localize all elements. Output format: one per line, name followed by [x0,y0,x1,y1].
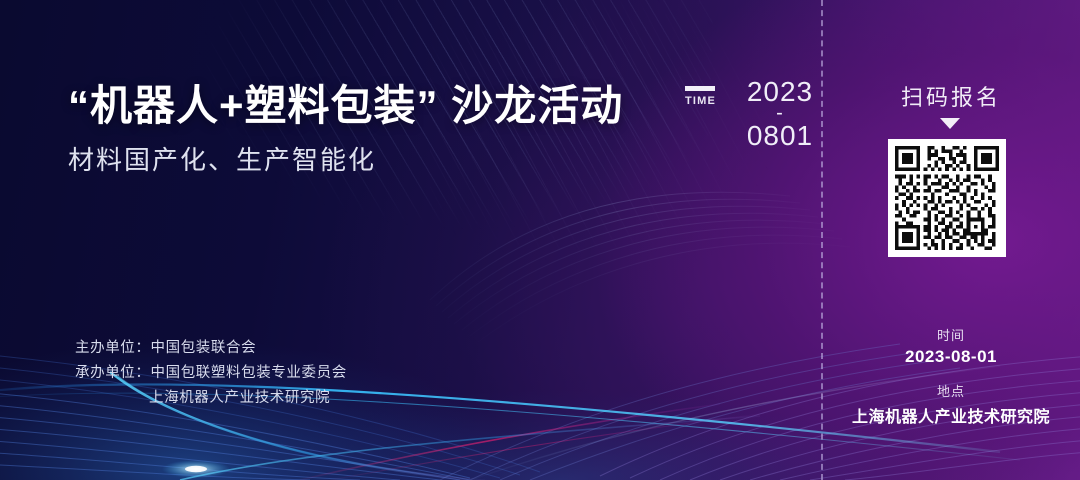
page-title: “机器人+塑料包装” 沙龙活动 [68,72,623,133]
event-venue-label: 地点 [822,381,1080,400]
qr-code-icon[interactable] [888,139,1006,257]
organizer-coordinator: 承办单位：中国包联塑料包装专业委员会 [75,361,347,386]
event-banner: “机器人+塑料包装” 沙龙活动 材料国产化、生产智能化 TIME 2023 - … [0,0,1080,480]
headline-date-monthday: 0801 [747,120,813,151]
triangle-down-icon [940,118,960,129]
time-bar-icon [685,86,715,91]
event-time-label: 时间 [822,325,1080,344]
organizer-list: 主办单位：中国包装联合会 承办单位：中国包联塑料包装专业委员会 上海机器人产业技… [75,336,347,411]
event-details: 时间 2023-08-01 地点 上海机器人产业技术研究院 [822,325,1080,427]
event-venue-value: 上海机器人产业技术研究院 [822,403,1080,427]
event-time-value: 2023-08-01 [822,347,1080,367]
time-label: TIME [685,95,729,107]
organizer-host: 主办单位：中国包装联合会 [75,336,347,361]
time-label-block: TIME [685,86,729,107]
headline-date: 2023 - 0801 [740,78,820,150]
page-subtitle: 材料国产化、生产智能化 [68,140,376,177]
scan-to-register-title: 扫码报名 [822,80,1080,112]
organizer-venue: 上海机器人产业技术研究院 [75,386,347,411]
